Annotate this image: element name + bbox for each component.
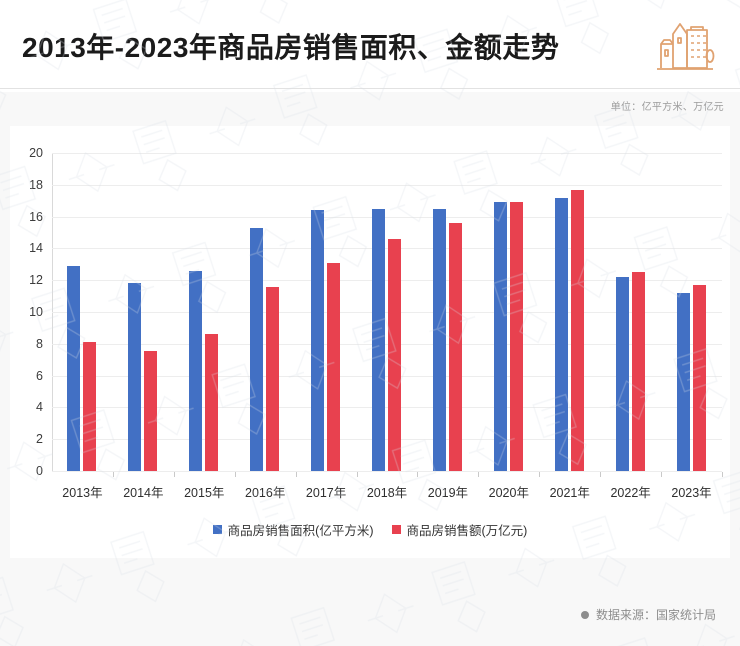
bar-area[interactable] <box>128 283 141 471</box>
bar-group <box>174 153 235 471</box>
y-axis-tick-label: 16 <box>29 210 43 224</box>
source-label: 数据来源：国家统计局 <box>596 606 716 623</box>
x-axis-label: 2016年 <box>245 482 285 501</box>
bar-area[interactable] <box>189 271 202 471</box>
x-axis-label: 2021年 <box>550 482 590 501</box>
header-divider <box>0 88 740 89</box>
bar-amount[interactable] <box>693 285 706 471</box>
x-axis-label: 2018年 <box>367 482 407 501</box>
x-axis-label: 2017年 <box>306 482 346 501</box>
x-axis-tickmark <box>600 472 601 477</box>
bar-amount[interactable] <box>266 287 279 471</box>
x-axis-tickmark <box>539 472 540 477</box>
bar-group <box>235 153 296 471</box>
bar-group <box>357 153 418 471</box>
page-header: 2013年-2023年商品房销售面积、金额走势 <box>0 0 740 92</box>
gridline: 0 <box>52 471 722 472</box>
x-axis-tickmark <box>357 472 358 477</box>
x-axis-tickmark <box>478 472 479 477</box>
bar-amount[interactable] <box>388 239 401 471</box>
legend-item-amount[interactable]: 商品房销售额(万亿元) <box>392 520 528 539</box>
x-axis-tickmark <box>113 472 114 477</box>
bar-group <box>52 153 113 471</box>
bar-amount[interactable] <box>83 342 96 471</box>
building-icon <box>653 18 715 76</box>
page-title: 2013年-2023年商品房销售面积、金额走势 <box>22 26 559 66</box>
bar-group <box>539 153 600 471</box>
bar-group <box>600 153 661 471</box>
bar-area[interactable] <box>311 210 324 471</box>
x-axis-label: 2013年 <box>62 482 102 501</box>
y-axis-tick-label: 10 <box>29 305 43 319</box>
x-axis-label: 2023年 <box>671 482 711 501</box>
bar-group <box>296 153 357 471</box>
unit-note: 单位：亿平方米、万亿元 <box>611 98 724 113</box>
bar-area[interactable] <box>616 277 629 471</box>
chart-card: 02468101214161820 商品房销售面积(亿平方米)商品房销售额(万亿… <box>10 126 730 558</box>
bar-amount[interactable] <box>327 263 340 471</box>
bar-amount[interactable] <box>632 272 645 471</box>
x-axis-tickmark <box>174 472 175 477</box>
x-axis-label: 2014年 <box>123 482 163 501</box>
y-axis-tick-label: 4 <box>36 400 43 414</box>
bar-amount[interactable] <box>205 334 218 471</box>
x-axis-tickmark <box>235 472 236 477</box>
x-axis-tickmark <box>296 472 297 477</box>
y-axis-tick-label: 0 <box>36 464 43 478</box>
bar-amount[interactable] <box>449 223 462 471</box>
x-axis-label: 2020年 <box>489 482 529 501</box>
bar-amount[interactable] <box>510 202 523 471</box>
x-axis-tickmark <box>417 472 418 477</box>
legend-swatch-icon <box>392 525 401 534</box>
x-axis-label: 2022年 <box>610 482 650 501</box>
x-axis-label: 2019年 <box>428 482 468 501</box>
bar-group <box>661 153 722 471</box>
bar-group <box>478 153 539 471</box>
bar-amount[interactable] <box>571 190 584 471</box>
source-footer: 数据来源：国家统计局 <box>581 606 716 623</box>
x-axis-tickmark <box>722 472 723 477</box>
chart-legend: 商品房销售面积(亿平方米)商品房销售额(万亿元) <box>10 520 730 539</box>
x-axis-label: 2015年 <box>184 482 224 501</box>
y-axis-tick-label: 20 <box>29 146 43 160</box>
bar-area[interactable] <box>67 266 80 471</box>
legend-label: 商品房销售面积(亿平方米) <box>228 520 374 539</box>
y-axis-tick-label: 18 <box>29 178 43 192</box>
bar-area[interactable] <box>555 198 568 471</box>
y-axis-tick-label: 2 <box>36 432 43 446</box>
y-axis-tick-label: 6 <box>36 369 43 383</box>
dot-icon <box>581 611 589 619</box>
bar-area[interactable] <box>250 228 263 471</box>
legend-item-area[interactable]: 商品房销售面积(亿平方米) <box>213 520 374 539</box>
y-axis-tick-label: 12 <box>29 273 43 287</box>
bar-group <box>417 153 478 471</box>
y-axis-tick-label: 14 <box>29 241 43 255</box>
bar-group <box>113 153 174 471</box>
x-axis-tickmark <box>661 472 662 477</box>
legend-swatch-icon <box>213 525 222 534</box>
y-axis-tick-label: 8 <box>36 337 43 351</box>
bar-area[interactable] <box>494 202 507 471</box>
legend-label: 商品房销售额(万亿元) <box>407 520 528 539</box>
bar-amount[interactable] <box>144 351 157 471</box>
plot-area: 02468101214161820 <box>52 153 722 471</box>
bar-area[interactable] <box>372 209 385 471</box>
bar-area[interactable] <box>677 293 690 471</box>
bar-area[interactable] <box>433 209 446 471</box>
